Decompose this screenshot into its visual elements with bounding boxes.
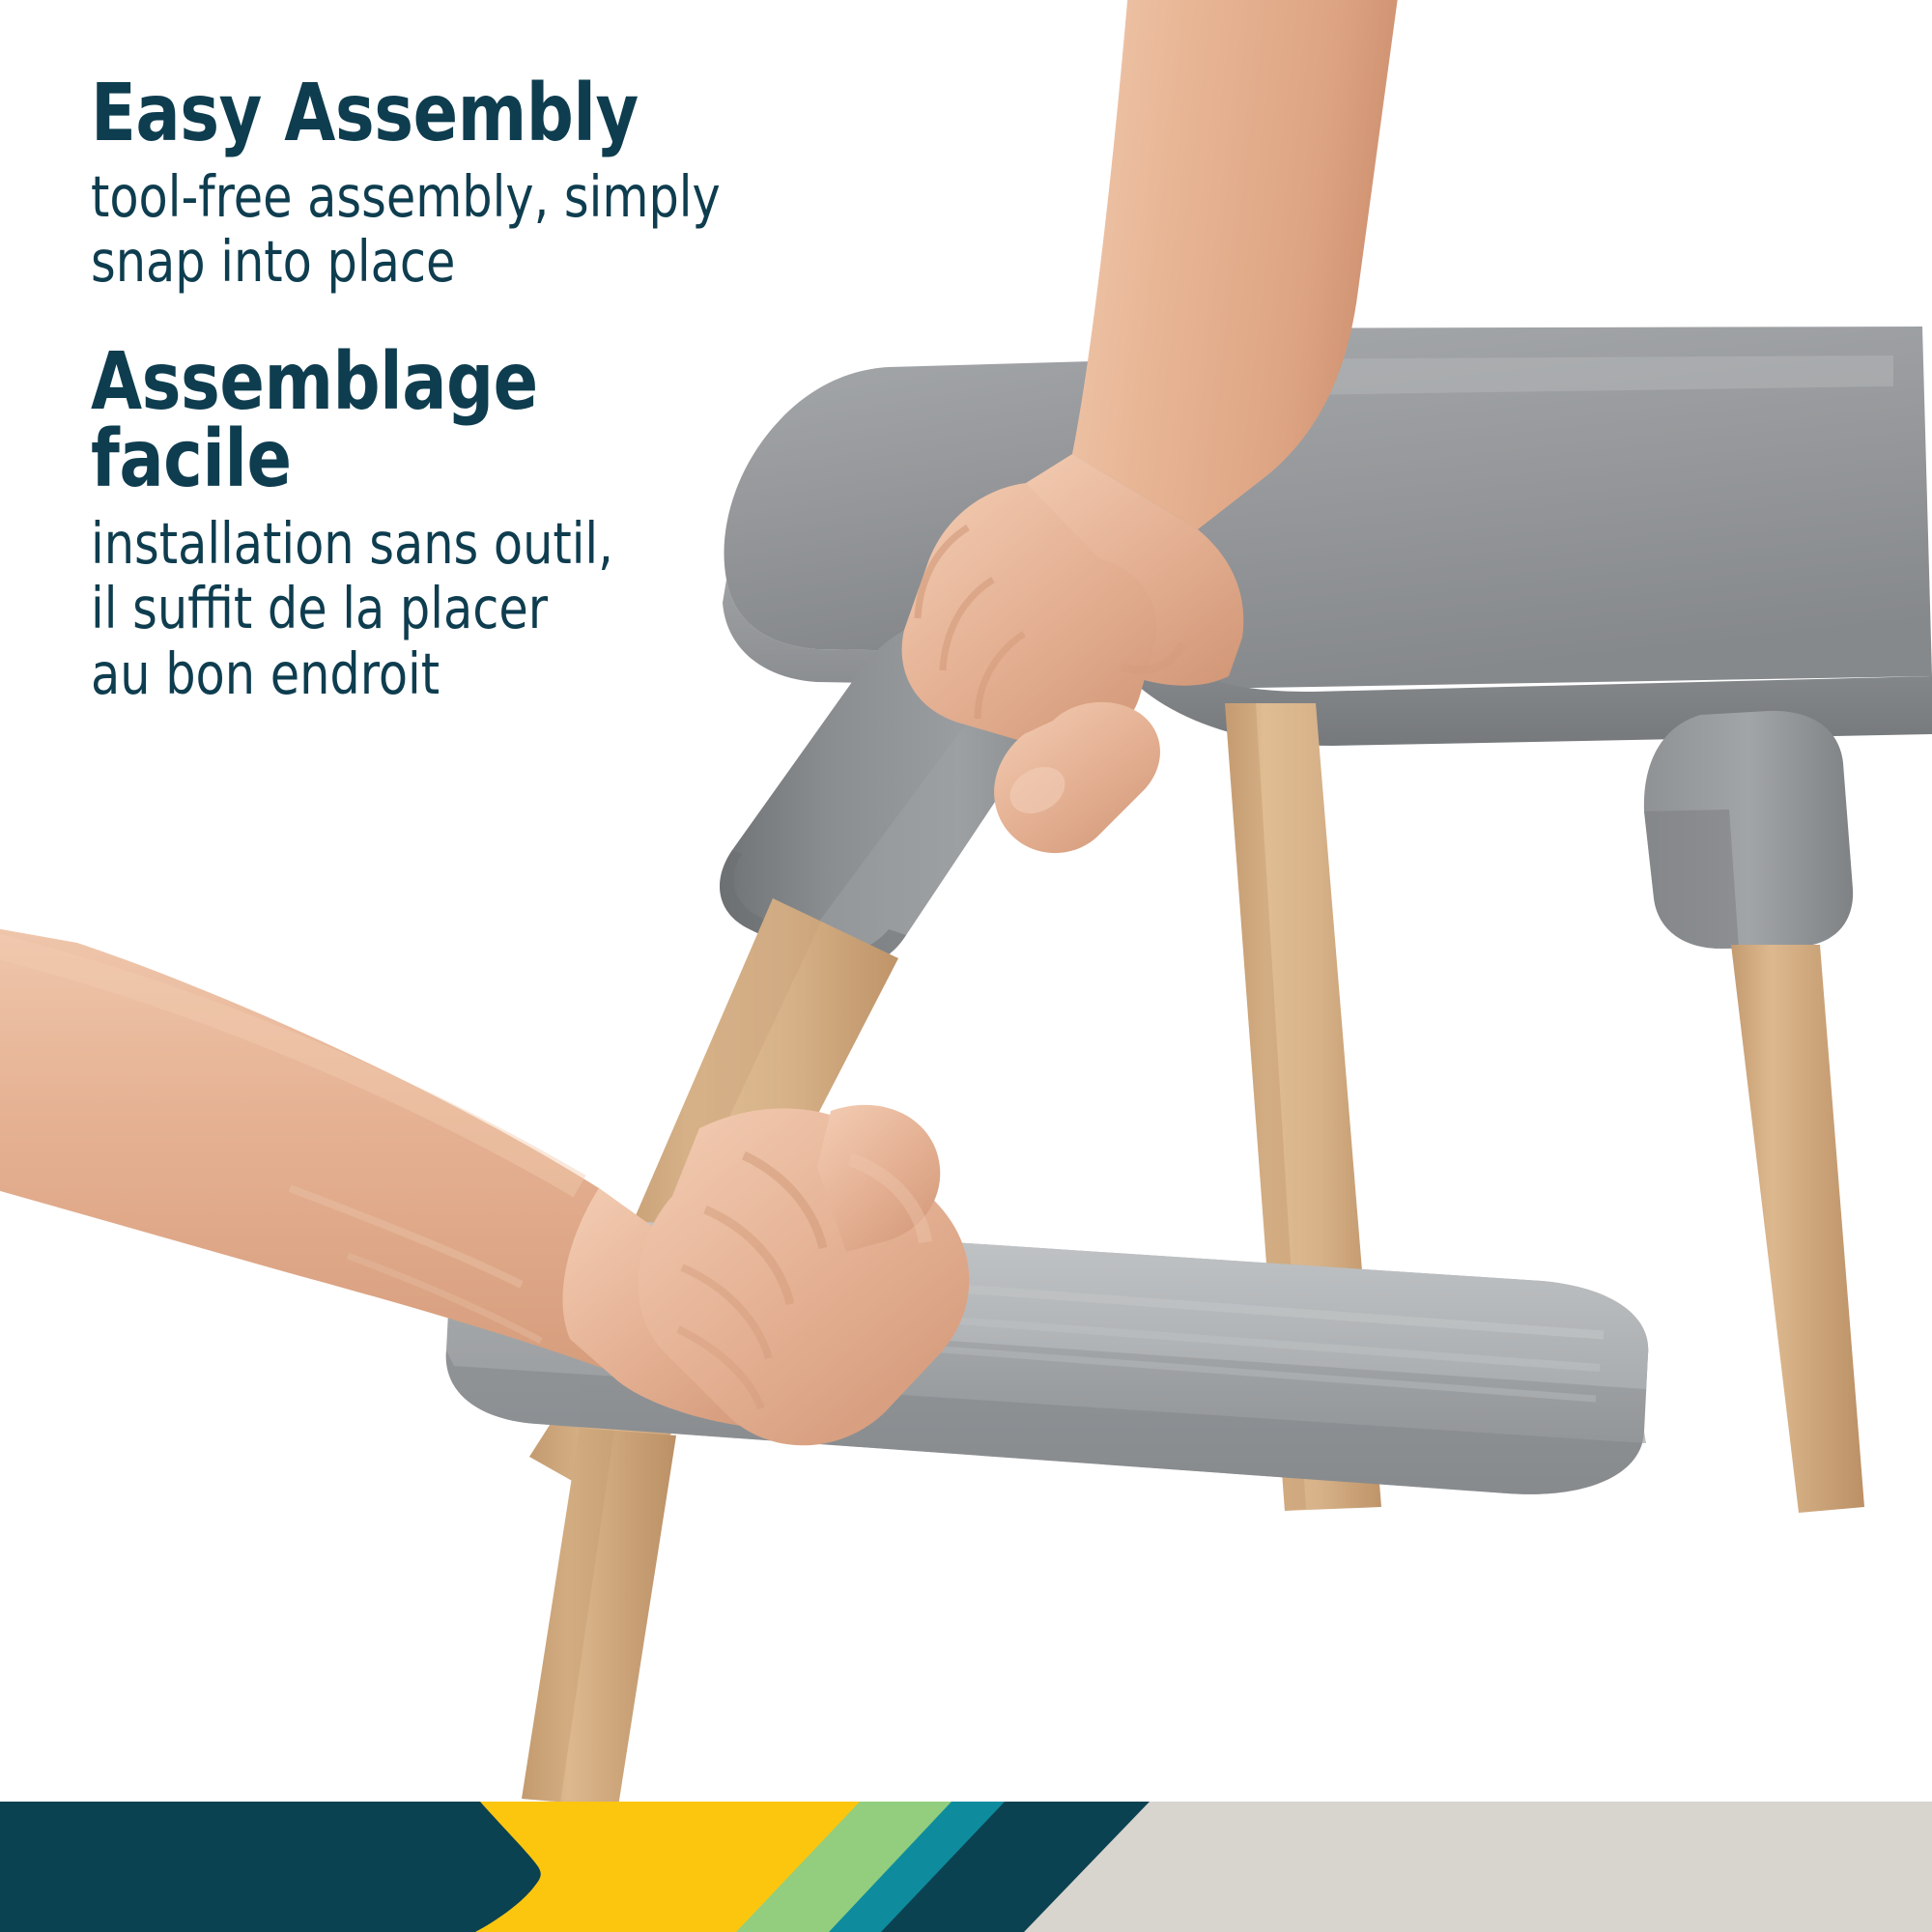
heading-french: Assemblage facile — [91, 344, 899, 497]
navy-block — [0, 1802, 541, 1932]
copy-block: Easy Assembly tool-free assembly, simply… — [91, 75, 960, 706]
body-french: installation sans outil, il suffit de la… — [91, 511, 899, 706]
leg-lower-tips — [502, 1424, 1401, 1806]
brand-chevron-banner — [0, 1802, 1932, 1932]
heading-english: Easy Assembly — [91, 75, 899, 153]
body-english: tool-free assembly, simply snap into pla… — [91, 164, 899, 295]
product-lifestyle-image: Easy Assembly tool-free assembly, simply… — [0, 0, 1932, 1932]
